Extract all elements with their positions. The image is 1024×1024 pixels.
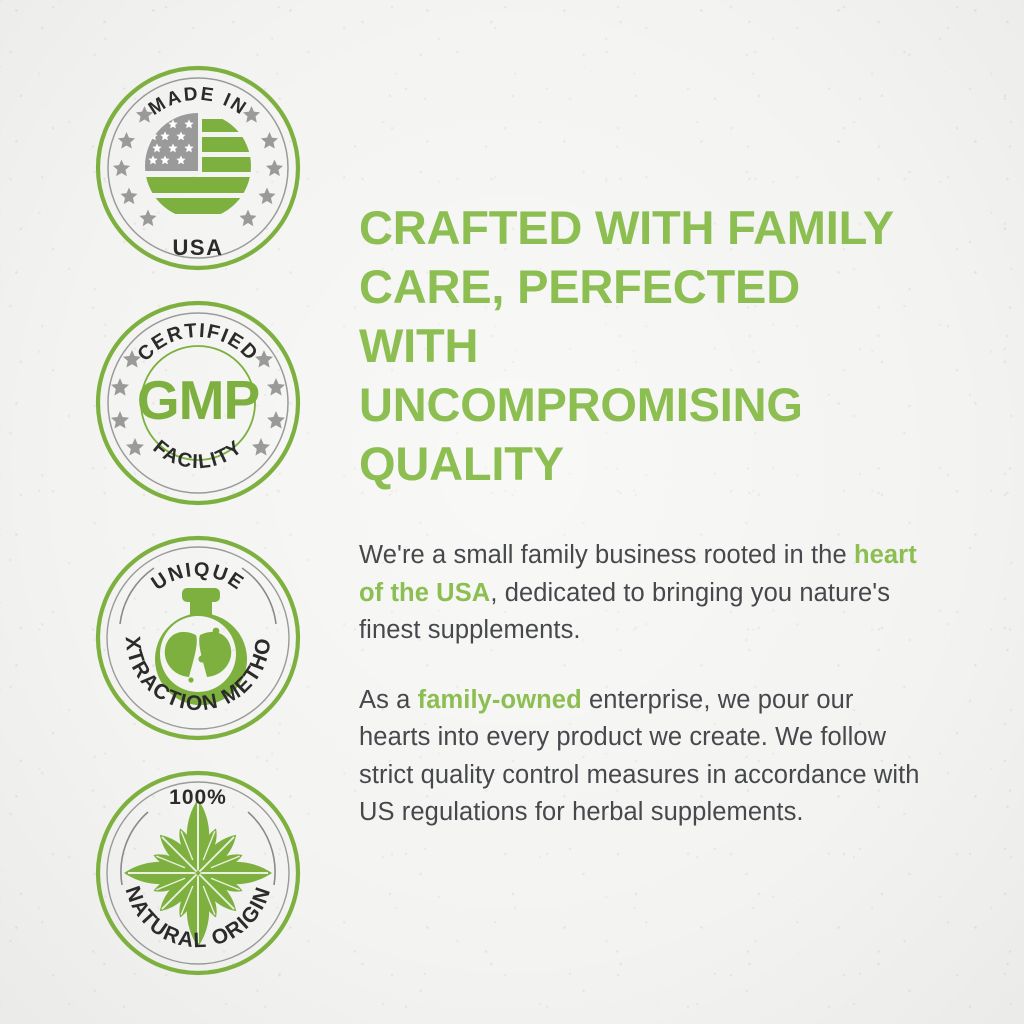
gmp-center-label: GMP [137,369,259,431]
badge-top-label: MADE IN [145,84,251,120]
badge-bottom-label: FACILITY [149,436,248,473]
body-paragraph-2: As a family-owned enterprise, we pour ou… [359,682,929,832]
paragraph-2-highlight: family-owned [418,686,582,714]
paragraph-2-part-1: As a [359,686,418,714]
promo-panel: MADE IN USA [0,0,1024,1024]
trust-badge-column: MADE IN USA [92,62,308,1002]
content-column: CRAFTED WITH FAMILY CARE, PERFECTED WITH… [359,198,929,832]
badge-natural-origin: 100% NATURAL ORIGIN [92,767,304,979]
badge-made-in-usa: MADE IN USA [92,62,304,274]
badge-top-label: CERTIFIED [133,320,262,366]
badge-gmp-certified: CERTIFIED GMP FACILITY [92,297,304,509]
paragraph-1-part-1: We're a small family business rooted in … [359,541,854,569]
badge-bottom-label: USA [173,235,224,260]
badge-unique-extraction-method: UNIQUE EXTRACTION METHOD [92,532,304,744]
page-title: CRAFTED WITH FAMILY CARE, PERFECTED WITH… [359,198,929,493]
body-paragraph-1: We're a small family business rooted in … [359,537,929,650]
badge-top-label: 100% [169,786,227,809]
made-in-usa-flag-circle-icon [136,113,256,214]
